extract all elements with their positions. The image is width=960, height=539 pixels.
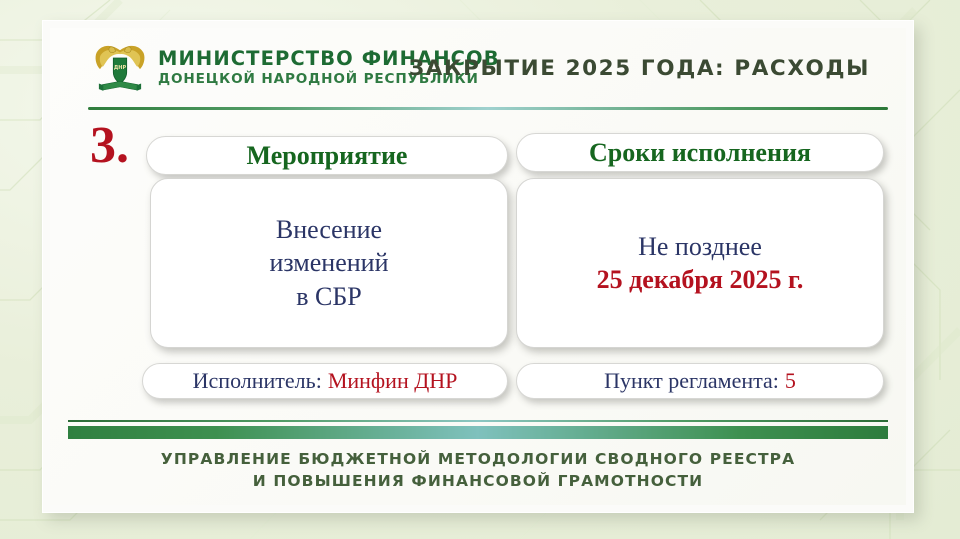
slide-title: ЗАКРЫТИЕ 2025 ГОДА: РАСХОДЫ [409,56,870,81]
slide-number: 3. [90,120,129,172]
deadline-text: Не позднее 25 декабря 2025 г. [597,230,804,297]
department-footer-line1: УПРАВЛЕНИЕ БЮДЖЕТНОЙ МЕТОДОЛОГИИ СВОДНОГ… [50,448,906,470]
deadline-text-line1: Не позднее [597,230,804,263]
svg-text:ДНР: ДНР [114,65,127,71]
executor-pill: Исполнитель: Минфин ДНР [142,363,508,399]
deadline-date: 25 декабря 2025 г. [597,263,804,296]
header-divider [88,107,888,110]
column-header-deadline-label: Сроки исполнения [589,138,811,168]
slide-header: ДНР МИНИСТЕРСТВО ФИНАНСОВ ДОНЕЦКОЙ НАРОД… [50,28,906,106]
measure-text-line2: изменений [269,246,388,279]
footer-divider-bar [68,426,888,439]
measure-text-line3: в СБР [269,280,388,313]
executor-value: Минфин ДНР [328,368,458,394]
column-header-measure: Мероприятие [146,136,508,175]
regulation-label: Пункт регламента: [604,368,779,394]
slide-card: ДНР МИНИСТЕРСТВО ФИНАНСОВ ДОНЕЦКОЙ НАРОД… [42,20,914,513]
department-footer-line2: И ПОВЫШЕНИЯ ФИНАНСОВОЙ ГРАМОТНОСТИ [50,470,906,492]
measure-text: Внесение изменений в СБР [269,213,388,313]
deadline-content-box: Не позднее 25 декабря 2025 г. [516,178,884,348]
measure-text-line1: Внесение [269,213,388,246]
footer-divider-thin [68,420,888,422]
column-header-measure-label: Мероприятие [247,141,408,171]
dpr-coat-of-arms-emblem: ДНР [92,38,148,98]
regulation-pill: Пункт регламента: 5 [516,363,884,399]
department-footer: УПРАВЛЕНИЕ БЮДЖЕТНОЙ МЕТОДОЛОГИИ СВОДНОГ… [50,448,906,493]
measure-content-box: Внесение изменений в СБР [150,178,508,348]
column-header-deadline: Сроки исполнения [516,133,884,172]
slide-content-surface: ДНР МИНИСТЕРСТВО ФИНАНСОВ ДОНЕЦКОЙ НАРОД… [50,28,906,505]
executor-label: Исполнитель: [193,368,322,394]
regulation-value: 5 [785,368,796,394]
